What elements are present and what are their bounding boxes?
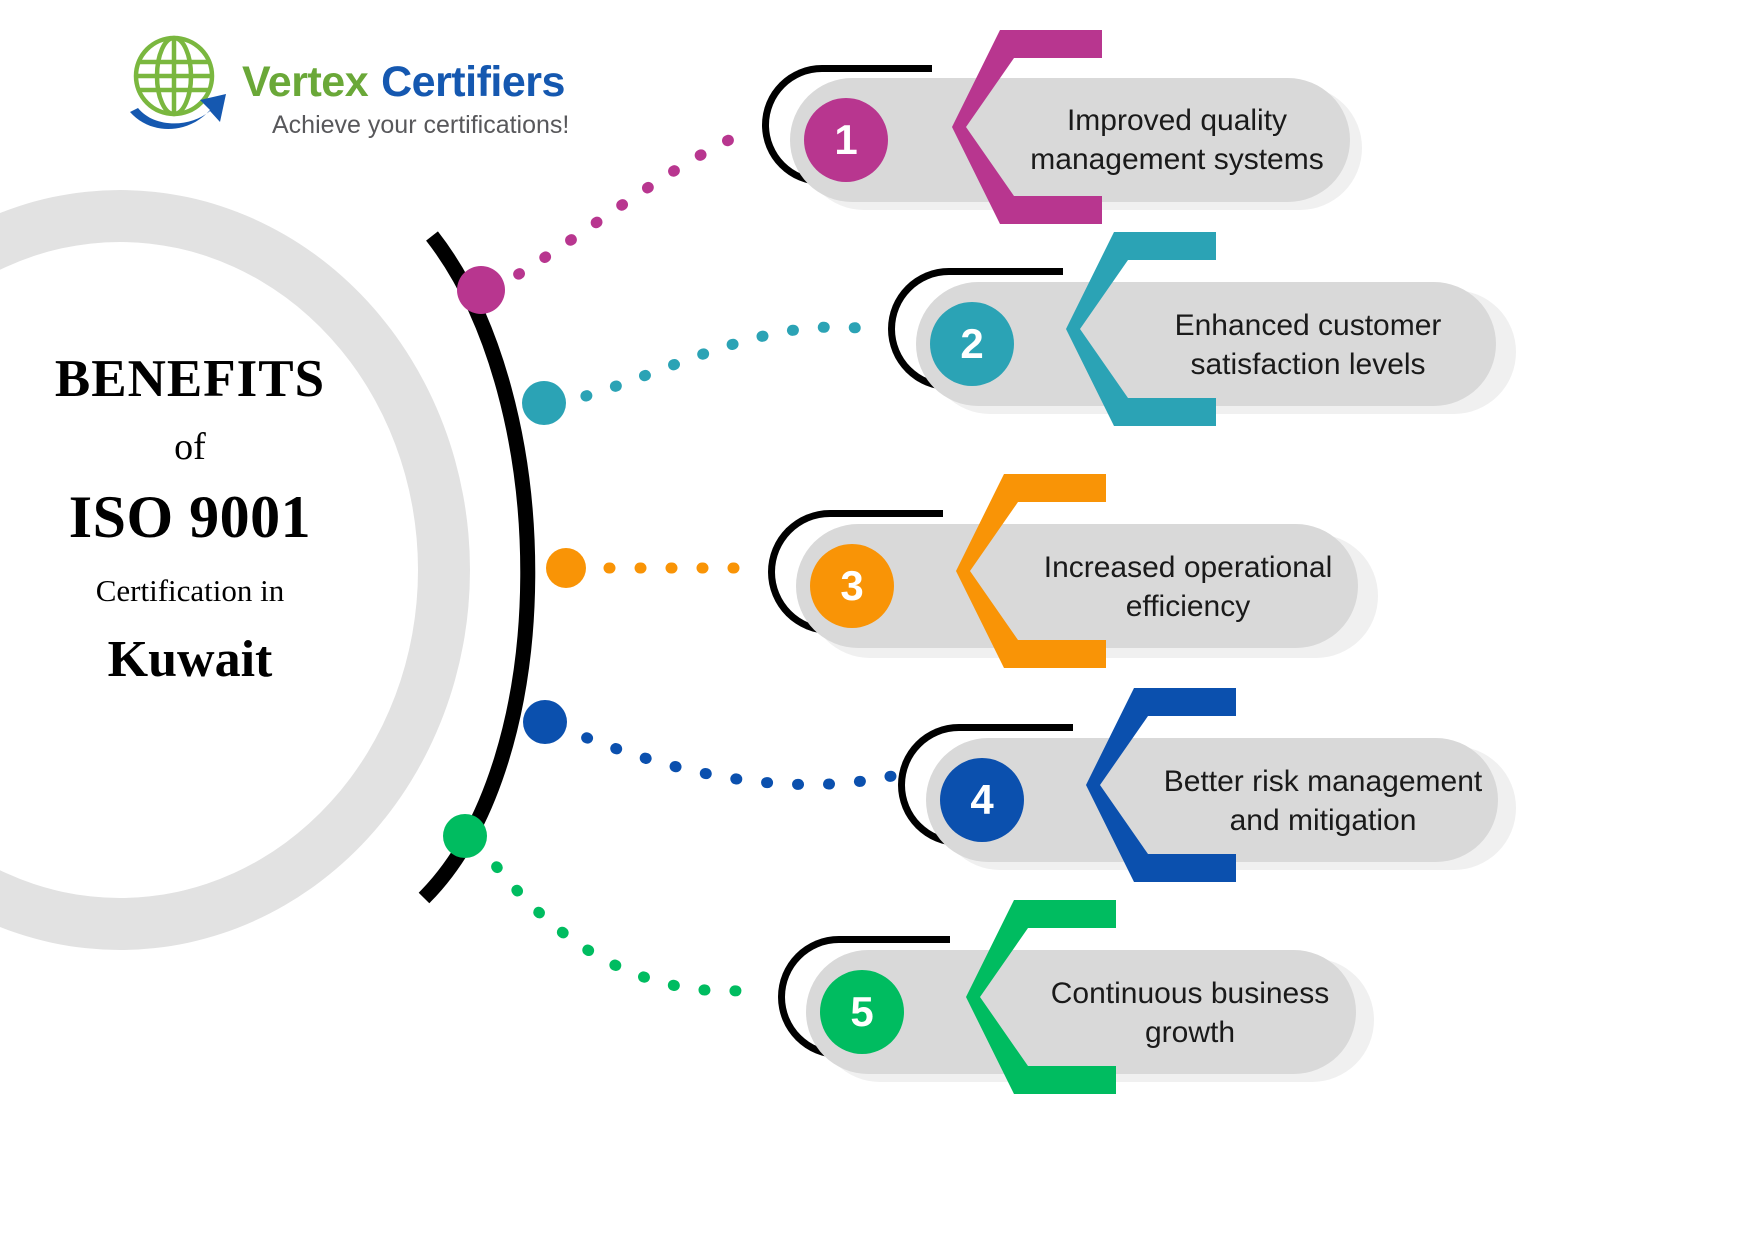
title-block: BENEFITS of ISO 9001 Certification in Ku… <box>20 352 360 688</box>
row-2-number: 2 <box>930 302 1014 386</box>
benefit-row-5[interactable]: 5 Continuous business growth <box>778 900 1390 1110</box>
arc-dot-3 <box>546 548 586 588</box>
title-country: Kuwait <box>20 633 360 688</box>
logo-wordmark: VertexCertifiers <box>242 58 565 107</box>
connector-1 <box>492 131 748 290</box>
benefit-row-1[interactable]: 1 Improved quality management systems <box>762 30 1382 240</box>
row-5-number: 5 <box>820 970 904 1054</box>
row-4-number: 4 <box>940 758 1024 842</box>
brand-logo[interactable]: VertexCertifiers Achieve your certificat… <box>122 28 572 146</box>
title-of: of <box>20 428 360 468</box>
title-certification: Certification in <box>20 575 360 608</box>
row-1-number: 1 <box>804 98 888 182</box>
row-4-label: Better risk management and mitigation <box>1144 734 1502 869</box>
logo-word-vertex: Vertex <box>242 58 368 106</box>
arc-dot-2 <box>522 381 566 425</box>
benefit-row-2[interactable]: 2 Enhanced customer satisfaction levels <box>888 236 1516 446</box>
connector-2 <box>556 327 874 404</box>
logo-word-certifiers: Certifiers <box>381 58 565 106</box>
row-3-number: 3 <box>810 544 894 628</box>
connector-4 <box>558 726 892 785</box>
row-3-label: Increased operational efficiency <box>1014 520 1362 655</box>
row-5-label: Continuous business growth <box>1024 946 1356 1081</box>
title-standard: ISO 9001 <box>20 486 360 549</box>
benefit-row-3[interactable]: 3 Increased operational efficiency <box>768 478 1388 688</box>
arc-dot-4 <box>523 700 567 744</box>
arc-dot-1 <box>457 266 505 314</box>
row-2-label: Enhanced customer satisfaction levels <box>1128 278 1488 413</box>
row-1-label: Improved quality management systems <box>1012 73 1342 208</box>
connector-5 <box>478 842 750 991</box>
benefit-row-4[interactable]: 4 Better risk management and mitigation <box>898 690 1516 900</box>
infographic-canvas: VertexCertifiers Achieve your certificat… <box>0 0 1748 1240</box>
arc-dot-5 <box>443 814 487 858</box>
logo-tagline: Achieve your certifications! <box>272 111 569 140</box>
title-benefits: BENEFITS <box>20 352 360 408</box>
globe-arrow-icon <box>122 28 232 138</box>
